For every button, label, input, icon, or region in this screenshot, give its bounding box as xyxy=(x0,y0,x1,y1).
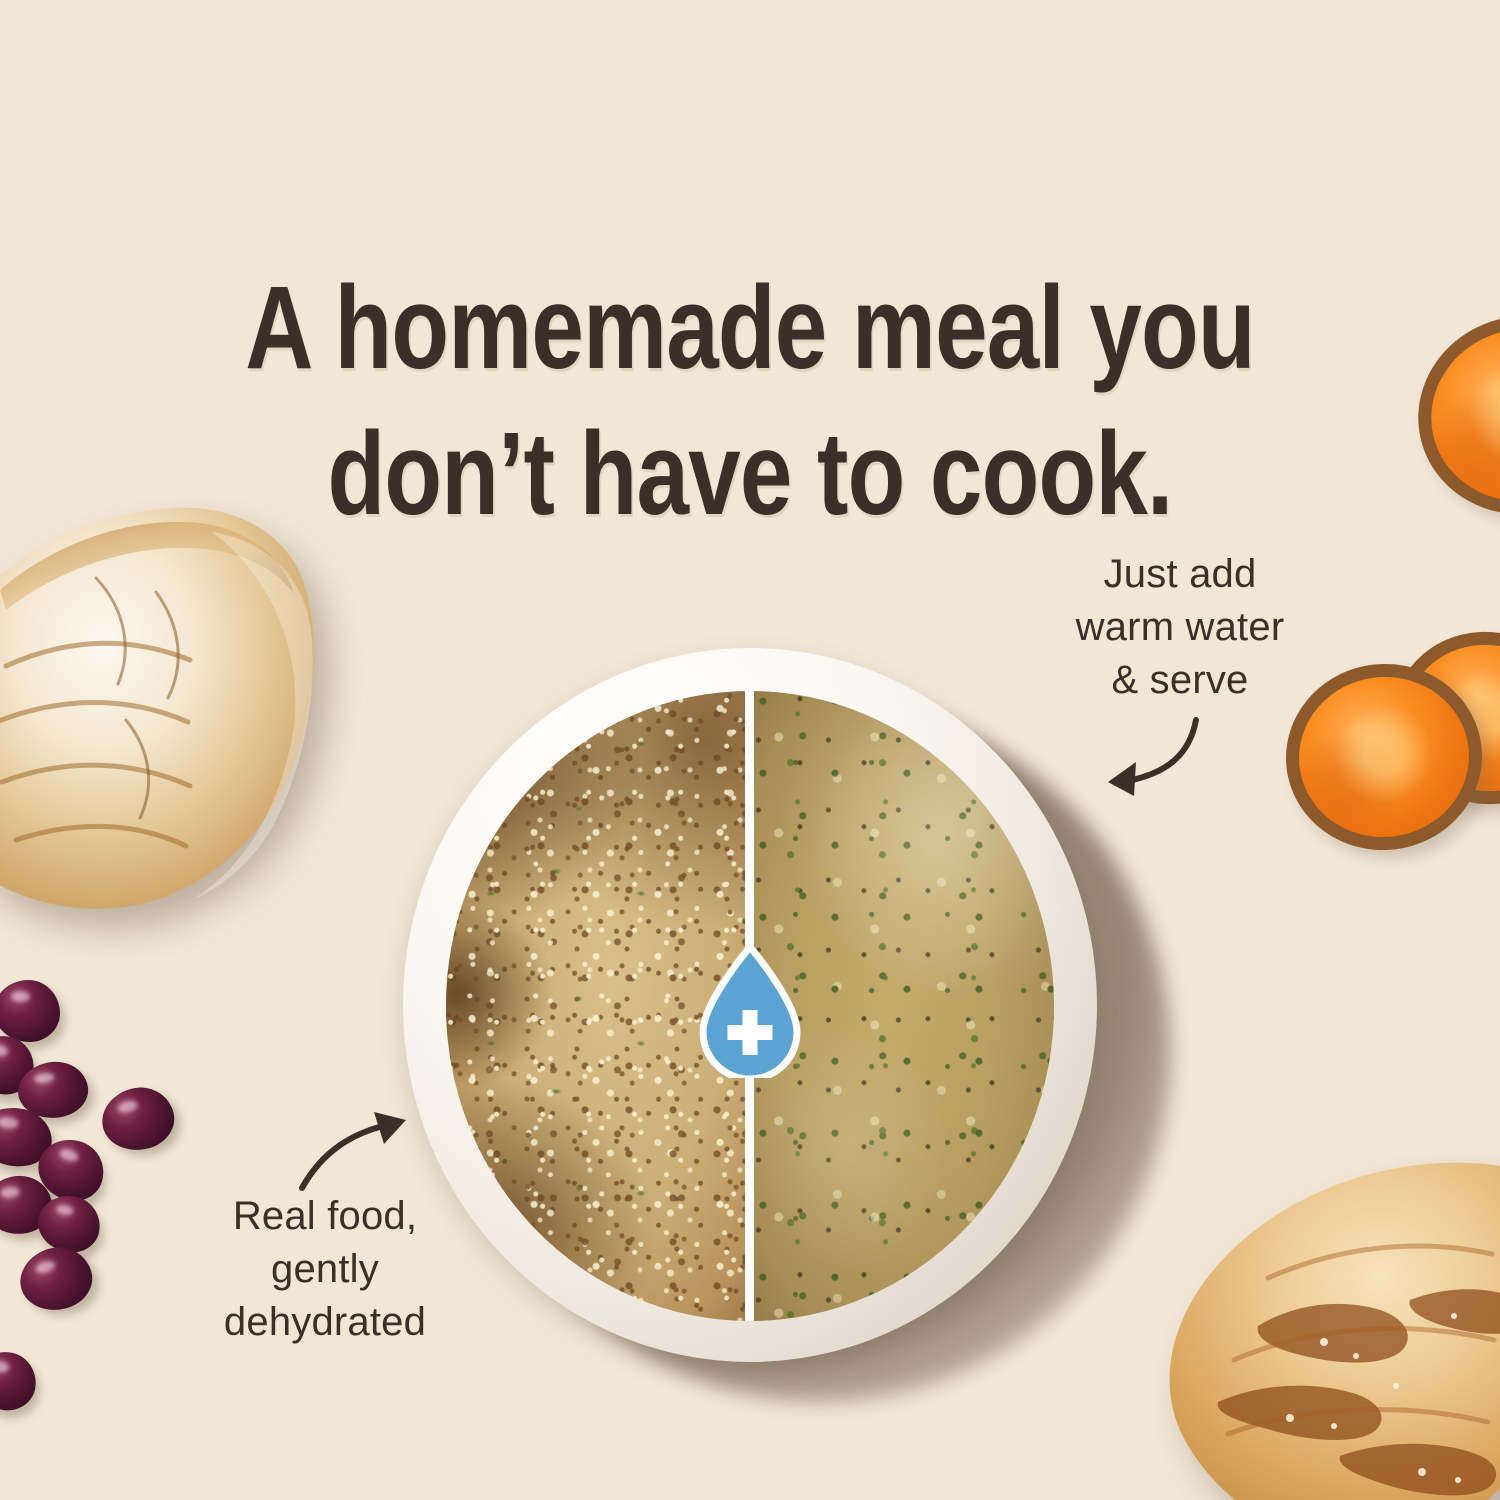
curved-arrow-down-left-icon xyxy=(1078,712,1208,802)
headline-line-1: A homemade meal you xyxy=(245,262,1255,394)
callout-just-add-water: Just add warm water & serve xyxy=(1010,548,1350,706)
callout-water-line-3: & serve xyxy=(1010,654,1350,707)
callout-food-line-2: gently xyxy=(155,1243,495,1296)
water-droplet-plus-icon xyxy=(695,944,805,1078)
split-bowl-figure xyxy=(403,648,1097,1372)
callout-food-line-1: Real food, xyxy=(155,1190,495,1243)
headline-line-2: don’t have to cook. xyxy=(150,401,1350,547)
callout-water-line-2: warm water xyxy=(1010,601,1350,654)
page-headline: A homemade meal you don’t have to cook. xyxy=(150,255,1350,548)
callout-water-line-1: Just add xyxy=(1010,548,1350,601)
grilled-chicken-breast-image xyxy=(1108,1150,1500,1500)
callout-food-line-3: dehydrated xyxy=(155,1296,495,1349)
callout-real-food: Real food, gently dehydrated xyxy=(155,1190,495,1348)
marketing-banner: A homemade meal you don’t have to cook. xyxy=(0,0,1500,1500)
curved-arrow-up-right-icon xyxy=(296,1106,416,1196)
